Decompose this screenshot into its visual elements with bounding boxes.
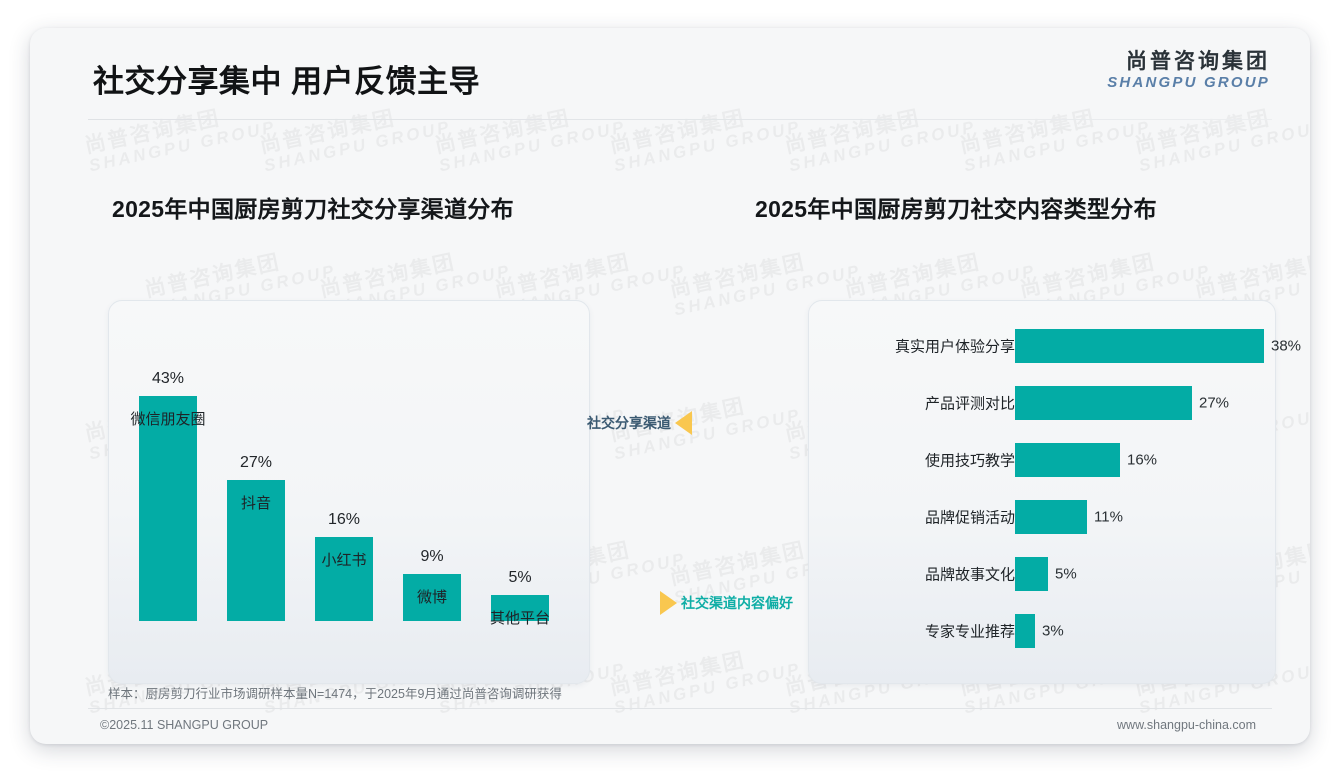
bar-row: 使用技巧教学16% — [809, 443, 1275, 477]
bar-value-label: 5% — [483, 569, 557, 587]
website-url: www.shangpu-china.com — [1117, 718, 1256, 732]
annotation-social-share-channel: 社交分享渠道 — [587, 411, 692, 435]
bar-value-label: 9% — [395, 548, 469, 566]
page-title: 社交分享集中 用户反馈主导 — [93, 56, 480, 101]
bar-row: 品牌促销活动11% — [809, 500, 1275, 534]
bar[interactable] — [1015, 614, 1035, 648]
bar-category-label: 抖音 — [203, 492, 309, 513]
bar[interactable] — [1015, 443, 1120, 477]
bar-group: 9%微博 — [395, 574, 469, 621]
bar-category-label: 微博 — [379, 586, 485, 607]
bar-value-label: 3% — [1042, 623, 1064, 640]
left-chart-title: 2025年中国厨房剪刀社交分享渠道分布 — [112, 190, 514, 224]
content-type-chart-card: 真实用户体验分享38%产品评测对比27%使用技巧教学16%品牌促销活动11%品牌… — [808, 300, 1276, 684]
bar-category-label: 其他平台 — [467, 607, 573, 628]
triangle-left-icon — [675, 411, 692, 435]
bar-value-label: 43% — [131, 370, 205, 388]
bar-value-label: 16% — [307, 511, 381, 529]
presentation-card: 尚普咨询集团SHANGPU GROUP尚普咨询集团SHANGPU GROUP尚普… — [30, 28, 1310, 744]
bar-value-label: 11% — [1094, 509, 1123, 526]
social-channel-chart-card: 43%微信朋友圈27%抖音16%小红书9%微博5%其他平台 — [108, 300, 590, 684]
header-divider — [88, 119, 1272, 120]
annotation-content-preference: 社交渠道内容偏好 — [660, 591, 793, 615]
bar-group: 27%抖音 — [219, 480, 293, 621]
right-chart-title: 2025年中国厨房剪刀社交内容类型分布 — [755, 190, 1157, 224]
annotation-preference-label: 社交渠道内容偏好 — [681, 593, 793, 613]
copyright-text: ©2025.11 SHANGPU GROUP — [100, 718, 268, 732]
bar-row: 真实用户体验分享38% — [809, 329, 1275, 363]
annotation-channel-label: 社交分享渠道 — [587, 413, 671, 433]
logo-chinese-name: 尚普咨询集团 — [1107, 50, 1270, 74]
bar-category-label: 品牌故事文化 — [925, 564, 1015, 585]
bar-category-label: 使用技巧教学 — [925, 450, 1015, 471]
bar-value-label: 16% — [1127, 452, 1157, 469]
bar-row: 品牌故事文化5% — [809, 557, 1275, 591]
sample-footnote: 样本：厨房剪刀行业市场调研样本量N=1474，于2025年9月通过尚普咨询调研获… — [108, 683, 562, 702]
triangle-right-icon — [660, 591, 677, 615]
slide-root: 尚普咨询集团SHANGPU GROUP尚普咨询集团SHANGPU GROUP尚普… — [0, 0, 1340, 780]
bar-group: 43%微信朋友圈 — [131, 396, 205, 621]
charts-container: 2025年中国厨房剪刀社交分享渠道分布 2025年中国厨房剪刀社交内容类型分布 … — [30, 128, 1310, 688]
bar-row: 产品评测对比27% — [809, 386, 1275, 420]
bar-value-label: 5% — [1055, 566, 1077, 583]
bar-category-label: 专家专业推荐 — [925, 621, 1015, 642]
bar-category-label: 微信朋友圈 — [115, 408, 221, 429]
bar[interactable] — [1015, 500, 1087, 534]
bar-row: 专家专业推荐3% — [809, 614, 1275, 648]
bar[interactable] — [1015, 386, 1192, 420]
bar[interactable] — [139, 396, 197, 621]
bar-value-label: 38% — [1271, 338, 1301, 355]
bar-category-label: 小红书 — [291, 549, 397, 570]
bar-group: 5%其他平台 — [483, 595, 557, 621]
logo-english-name: SHANGPU GROUP — [1107, 74, 1270, 91]
vertical-bar-chart: 43%微信朋友圈27%抖音16%小红书9%微博5%其他平台 — [109, 301, 589, 683]
bar-group: 16%小红书 — [307, 537, 381, 621]
bar-category-label: 真实用户体验分享 — [895, 336, 1015, 357]
bar-value-label: 27% — [1199, 395, 1229, 412]
bar-category-label: 品牌促销活动 — [925, 507, 1015, 528]
bar[interactable] — [1015, 557, 1048, 591]
horizontal-bar-chart: 真实用户体验分享38%产品评测对比27%使用技巧教学16%品牌促销活动11%品牌… — [809, 301, 1275, 683]
bar-category-label: 产品评测对比 — [925, 393, 1015, 414]
slide-header: 社交分享集中 用户反馈主导 尚普咨询集团 SHANGPU GROUP — [30, 28, 1310, 120]
brand-logo: 尚普咨询集团 SHANGPU GROUP — [1107, 50, 1270, 91]
bar[interactable] — [1015, 329, 1264, 363]
footer-divider — [88, 708, 1272, 709]
bar-value-label: 27% — [219, 454, 293, 472]
